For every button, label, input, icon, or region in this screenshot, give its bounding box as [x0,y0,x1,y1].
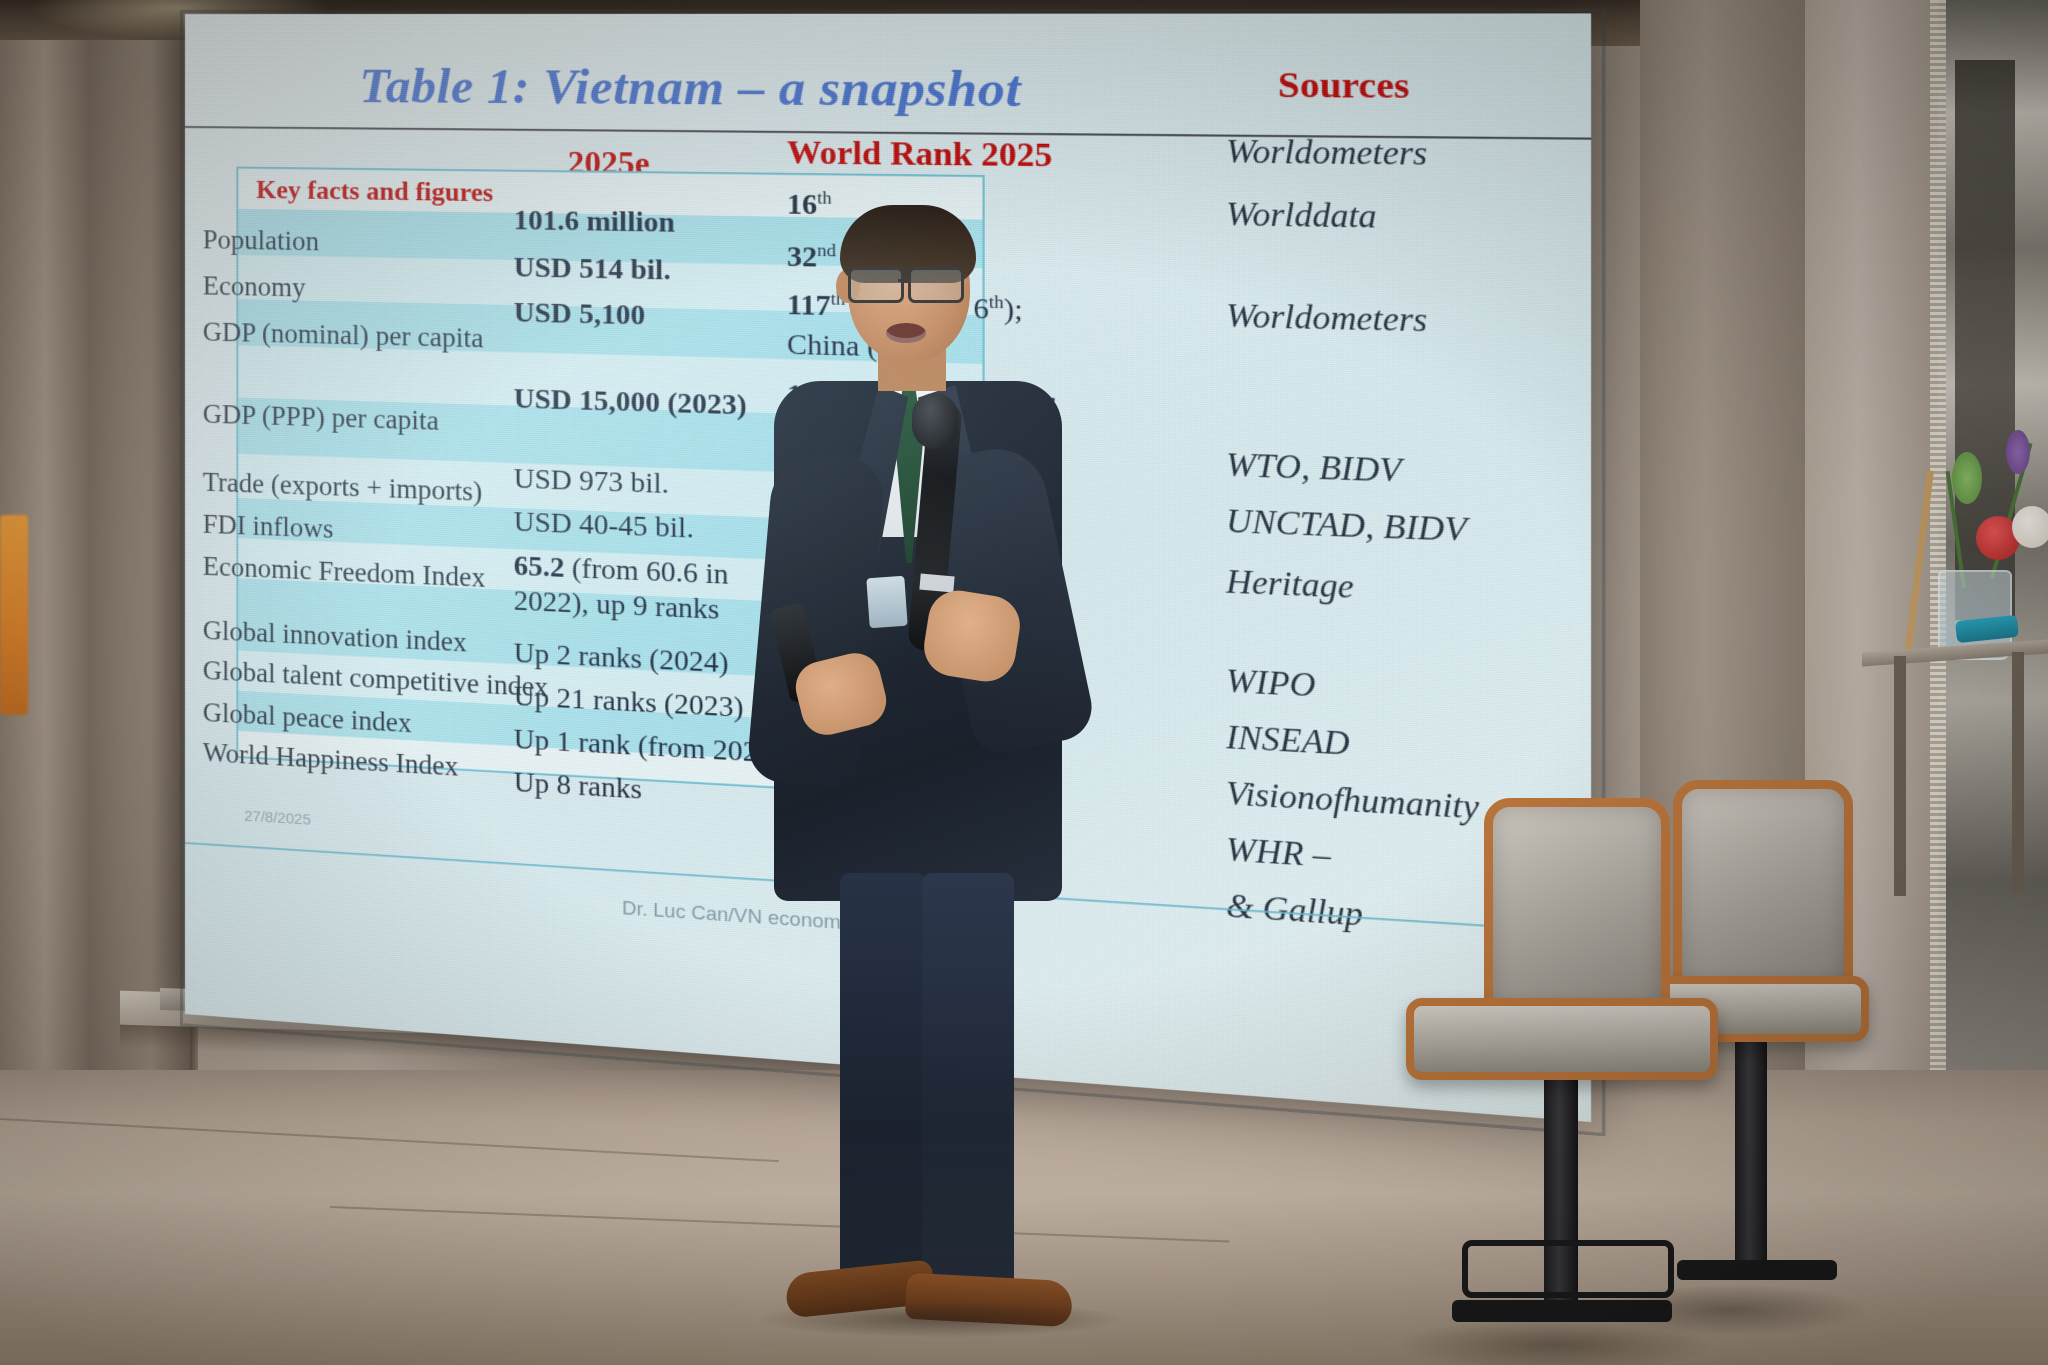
row-source: Heritage [1226,562,1354,606]
eyeglass-bridge [898,279,910,282]
eyeglasses [846,267,974,297]
rank-column-heading: World Rank 2025 [787,133,1053,175]
row-value: USD 40-45 bil. [514,506,694,546]
row-value: 101.6 million [514,205,675,240]
row-source: Worldometers [1226,132,1427,173]
row-label: Economy [203,270,306,303]
eyeglass-lens-left [848,267,904,303]
bar-stool-front[interactable] [1400,798,1730,1365]
flower-bloom-white [2012,506,2048,548]
row-label: FDI inflows [203,509,334,545]
row-value: USD 15,000 (2023) [514,383,747,423]
row-value: USD 973 bil. [514,463,669,501]
row-source: Worldometers [1226,297,1427,340]
side-table-leg-left [1894,656,1906,896]
row-value: USD 514 bil. [514,252,671,288]
left-door-panel [88,40,193,1095]
sources-column-heading: Sources [1278,66,1410,108]
name-badge [866,576,907,629]
row-source: UNCTAD, BIDV [1226,502,1467,550]
wall-decoration [0,515,28,715]
stool-footring [1462,1240,1674,1298]
stool-base [1452,1300,1672,1322]
row-value: USD 5,100 [514,297,646,333]
row-source: INSEAD [1226,718,1350,763]
row-value: 65.2 (from 60.6 in 2022), up 9 ranks [514,549,756,630]
stool-post [1735,1030,1767,1270]
slide-title: Table 1: Vietnam – a snapshot [359,56,1243,120]
eyeglass-lens-right [908,267,964,303]
row-source: Worlddata [1226,195,1377,236]
microphone-head [912,393,958,449]
window-blind-chain [1930,0,1946,1130]
mouth [886,323,926,343]
row-source: WTO, BIDV [1226,446,1401,491]
presentation-photo-scene: Table 1: Vietnam – a snapshot Sources 20… [0,0,2048,1365]
flower-bloom-green [1952,452,1982,504]
stool-seat [1406,998,1718,1080]
facts-column-heading: Key facts and figures [256,175,493,209]
microphone-band [919,574,954,593]
stool-shadow [1400,1318,1710,1365]
trouser-leg-left [840,873,926,1293]
trouser-leg-right [922,873,1014,1283]
slide-date-stamp: 27/8/2025 [244,808,311,829]
presenter-shadow [760,1301,1120,1337]
row-source: WHR – [1226,830,1331,875]
side-table-leg-right [2012,652,2024,892]
row-label: Population [203,224,319,257]
flower-bloom-purple [2006,430,2030,474]
row-value: Up 8 ranks [514,766,642,806]
row-source: WIPO [1226,662,1315,705]
presenter [740,205,1140,1295]
